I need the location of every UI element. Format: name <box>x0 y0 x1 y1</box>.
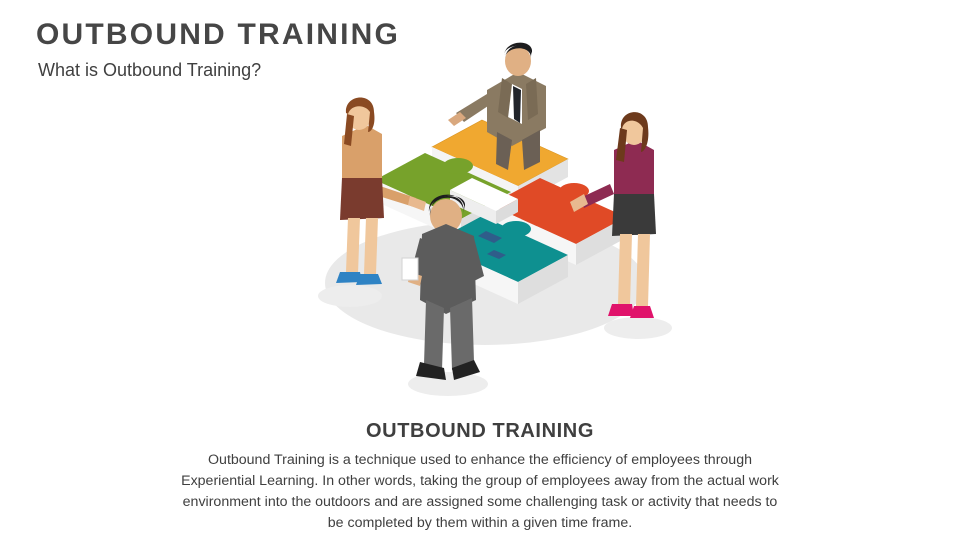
body-paragraph: Outbound Training is a technique used to… <box>180 450 780 534</box>
slide: OUTBOUND TRAINING What is Outbound Train… <box>0 0 960 540</box>
page-subtitle: What is Outbound Training? <box>38 60 261 81</box>
illustration-caption: OUTBOUND TRAINING <box>0 420 960 443</box>
illustration <box>250 28 720 403</box>
